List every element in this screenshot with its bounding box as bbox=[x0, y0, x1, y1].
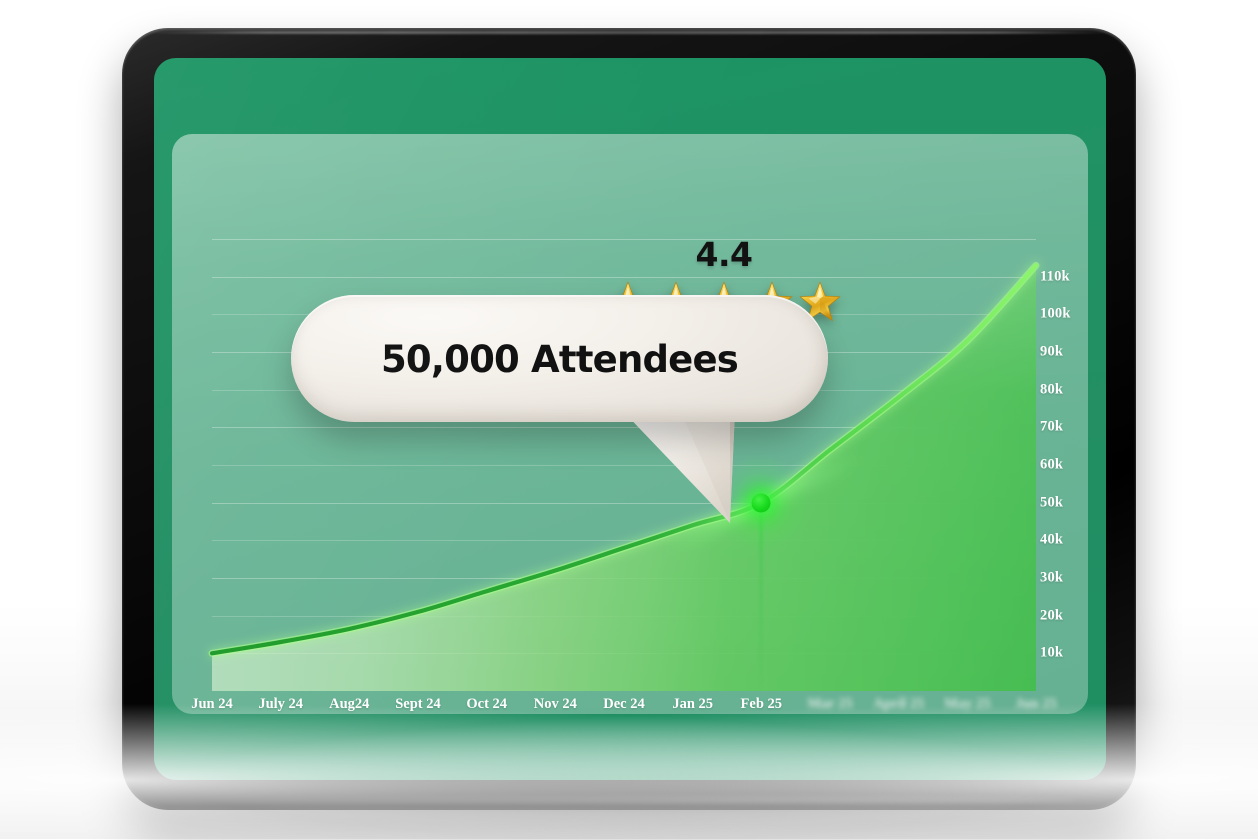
y-axis-tick-label: 20k bbox=[1040, 607, 1063, 624]
area-chart-graphic bbox=[212, 239, 1036, 691]
y-axis-tick-label: 60k bbox=[1040, 457, 1063, 474]
x-axis-tick-label: Jan 25 bbox=[672, 696, 713, 713]
y-axis-tick-label: 90k bbox=[1040, 344, 1063, 361]
y-axis-labels: 110k100k90k80k70k60k50k40k30k20k10k bbox=[1036, 239, 1088, 691]
x-axis-tick-label: Mar 25 bbox=[807, 696, 852, 713]
x-axis-tick-label: Sept 24 bbox=[395, 696, 441, 713]
x-axis-tick-label: Jun 24 bbox=[191, 696, 233, 713]
chart-card: 110k100k90k80k70k60k50k40k30k20k10k Jun … bbox=[172, 134, 1088, 714]
y-axis-tick-label: 80k bbox=[1040, 381, 1063, 398]
scene-background: 110k100k90k80k70k60k50k40k30k20k10k Jun … bbox=[0, 0, 1258, 839]
y-axis-tick-label: 70k bbox=[1040, 419, 1063, 436]
y-axis-tick-label: 50k bbox=[1040, 494, 1063, 511]
x-axis-tick-label: Oct 24 bbox=[466, 696, 507, 713]
y-axis-tick-label: 110k bbox=[1040, 268, 1070, 285]
tablet-device-frame: 110k100k90k80k70k60k50k40k30k20k10k Jun … bbox=[122, 28, 1136, 810]
tablet-screen: 110k100k90k80k70k60k50k40k30k20k10k Jun … bbox=[154, 58, 1106, 780]
x-axis-tick-label: Aug24 bbox=[329, 696, 369, 713]
y-axis-tick-label: 30k bbox=[1040, 570, 1063, 587]
x-axis-labels: Jun 24July 24Aug24Sept 24Oct 24Nov 24Dec… bbox=[212, 696, 1036, 714]
x-axis-tick-label: Feb 25 bbox=[741, 696, 782, 713]
x-axis-tick-label: Dec 24 bbox=[603, 696, 644, 713]
x-axis-tick-label: Nov 24 bbox=[534, 696, 577, 713]
chart-plot-area bbox=[212, 239, 1036, 691]
y-axis-tick-label: 100k bbox=[1040, 306, 1071, 323]
x-axis-tick-label: Jun 25 bbox=[1015, 696, 1057, 713]
y-axis-tick-label: 10k bbox=[1040, 645, 1063, 662]
highlight-data-point[interactable] bbox=[752, 493, 771, 512]
x-axis-tick-label: April 25 bbox=[873, 696, 924, 713]
x-axis-tick-label: May 25 bbox=[944, 696, 990, 713]
x-axis-tick-label: July 24 bbox=[258, 696, 303, 713]
y-axis-tick-label: 40k bbox=[1040, 532, 1063, 549]
